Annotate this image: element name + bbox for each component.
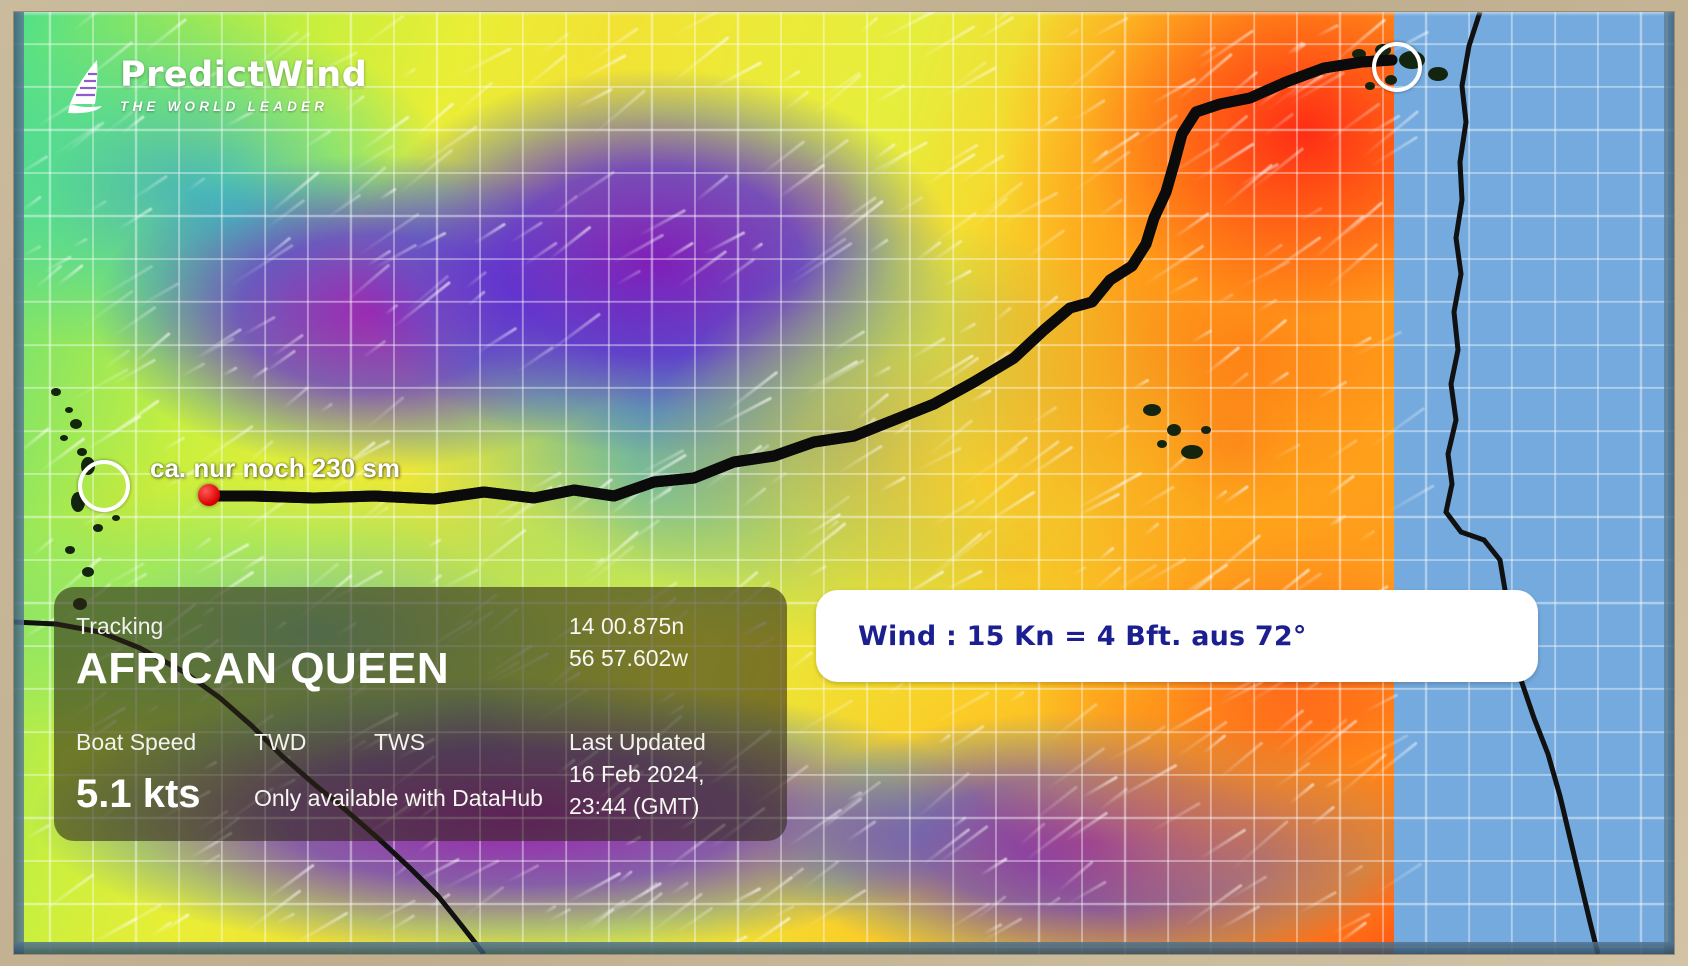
predictwind-logo: PredictWind THE WORLD LEADER xyxy=(64,58,367,116)
current-position-dot[interactable] xyxy=(198,484,220,506)
boat-speed-label: Boat Speed xyxy=(76,729,196,756)
longitude-value: 56 57.602w xyxy=(569,645,688,672)
tracking-info-panel: Tracking AFRICAN QUEEN 14 00.875n 56 57.… xyxy=(54,587,787,841)
logo-tagline: THE WORLD LEADER xyxy=(120,100,367,114)
latitude-value: 14 00.875n xyxy=(569,613,684,640)
tws-label: TWS xyxy=(374,729,425,756)
last-updated-label: Last Updated xyxy=(569,729,706,756)
destination-marker-ring[interactable] xyxy=(1372,42,1422,92)
sail-icon xyxy=(64,58,110,116)
wind-callout-box: Wind : 15 Kn = 4 Bft. aus 72° xyxy=(816,590,1538,682)
last-updated-date: 16 Feb 2024, xyxy=(569,761,705,788)
logo-brand: PredictWind xyxy=(120,58,367,93)
wind-callout-text: Wind : 15 Kn = 4 Bft. aus 72° xyxy=(858,621,1307,652)
datahub-note: Only available with DataHub xyxy=(254,785,543,812)
screenshot-root: PredictWind THE WORLD LEADER ca. nur noc… xyxy=(0,0,1688,966)
last-updated-time: 23:44 (GMT) xyxy=(569,793,699,820)
map-frame: PredictWind THE WORLD LEADER ca. nur noc… xyxy=(14,12,1674,954)
twd-label: TWD xyxy=(254,729,306,756)
boat-name: AFRICAN QUEEN xyxy=(76,644,449,694)
origin-marker-ring[interactable] xyxy=(78,460,130,512)
tracking-label: Tracking xyxy=(76,613,163,640)
wind-map[interactable]: PredictWind THE WORLD LEADER ca. nur noc… xyxy=(14,12,1674,954)
boat-speed-value: 5.1 kts xyxy=(76,772,201,817)
distance-annotation: ca. nur noch 230 sm xyxy=(150,453,400,484)
